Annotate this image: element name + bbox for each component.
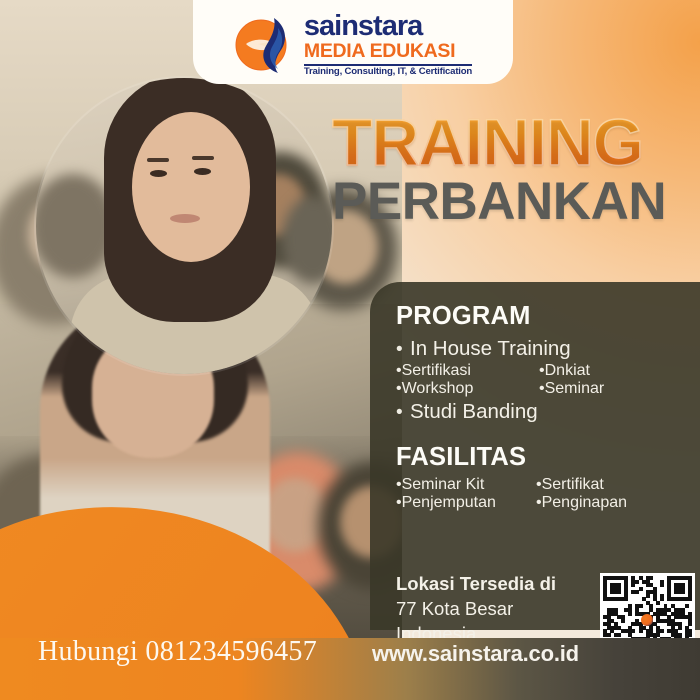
program-heading: PROGRAM (396, 302, 690, 331)
program-item: • Studi Banding (396, 398, 690, 425)
location-line-1: Lokasi Tersedia di (396, 572, 596, 597)
qr-center-logo-icon (641, 614, 653, 626)
fasilitas-item-label: Seminar Kit (402, 476, 485, 494)
website-url[interactable]: www.sainstara.co.id (372, 641, 579, 667)
fasilitas-item: • Penjemputan • Penginapan (396, 494, 690, 512)
sainstara-logo-mark (234, 14, 296, 76)
program-item: • Sertifikasi • Dnkiat (396, 362, 690, 380)
program-item-label: Dnkiat (545, 362, 590, 380)
bullet-icon: • (396, 340, 410, 359)
fasilitas-heading: FASILITAS (396, 443, 690, 472)
logo-subtitle: MEDIA EDUKASI (304, 42, 472, 62)
program-item-label: Studi Banding (410, 398, 538, 425)
fasilitas-item-label: Penginapan (542, 494, 627, 512)
program-item: • In House Training (396, 335, 690, 362)
program-item: • Workshop • Seminar (396, 380, 690, 398)
fasilitas-item: • Seminar Kit • Sertifikat (396, 476, 690, 494)
fasilitas-item-label: Penjemputan (402, 494, 496, 512)
location-block: Lokasi Tersedia di 77 Kota Besar Indones… (396, 572, 596, 647)
headline-line-1: TRAINING (332, 112, 682, 173)
program-item-label: Workshop (402, 380, 474, 398)
fasilitas-item-label: Sertifikat (542, 476, 604, 494)
bullet-icon: • (396, 403, 410, 422)
headline-line-2: PERBANKAN (332, 175, 682, 228)
program-item-label: In House Training (410, 335, 571, 362)
logo-tagline: Training, Consulting, IT, & Certificatio… (304, 67, 472, 77)
promotional-poster: sainstara MEDIA EDUKASI Training, Consul… (0, 0, 700, 700)
contact-phone[interactable]: Hubungi 081234596457 (38, 636, 317, 668)
program-item-label: Sertifikasi (402, 362, 471, 380)
portrait-circle (36, 78, 332, 374)
logo-brand: sainstara (304, 12, 472, 41)
logo-header-tab: sainstara MEDIA EDUKASI Training, Consul… (193, 0, 513, 84)
program-item-label: Seminar (545, 380, 605, 398)
headline-block: TRAINING PERBANKAN (332, 112, 682, 228)
